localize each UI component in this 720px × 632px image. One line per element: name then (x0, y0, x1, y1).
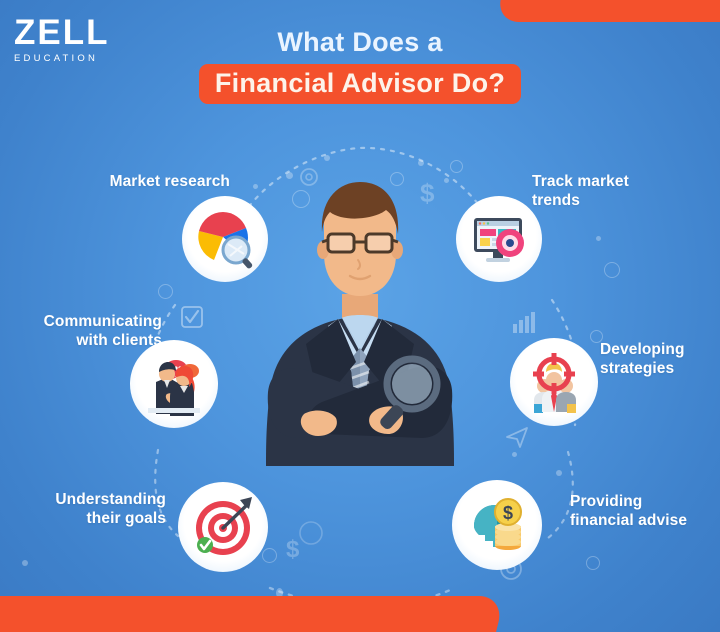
item-market-research-label: Market research (40, 172, 230, 191)
svg-text:$: $ (503, 503, 513, 523)
item-communicating-with-clients-label: Communicating with clients (0, 312, 162, 350)
item-developing-strategies-label: Developing strategies (600, 340, 718, 378)
two-people-speech-bubbles-icon (142, 352, 206, 416)
item-developing-strategies-bubble[interactable] (510, 338, 598, 426)
page-title: What Does a Financial Advisor Do? (0, 26, 720, 104)
corner-ribbon-bottom-left (0, 596, 505, 632)
coin-stack-icon (495, 523, 521, 550)
item-track-market-trends-bubble[interactable] (456, 196, 542, 282)
monitor-donut-chart-icon (468, 208, 530, 270)
magnifier-icon (223, 237, 253, 269)
title-highlight-box: Financial Advisor Do? (199, 64, 521, 104)
item-providing-financial-advise-label: Providing financial advise (570, 492, 720, 530)
item-understanding-their-goals-bubble[interactable] (178, 482, 268, 572)
item-track-market-trends-label: Track market trends (532, 172, 708, 210)
title-line-2: Financial Advisor Do? (215, 68, 505, 98)
dartboard-arrow-icon (190, 494, 256, 560)
item-communicating-with-clients-bubble[interactable] (130, 340, 218, 428)
item-providing-financial-advise-bubble[interactable]: $ (452, 480, 542, 570)
pie-chart-magnifier-icon (194, 208, 256, 270)
item-market-research-bubble[interactable] (182, 196, 268, 282)
financial-advisor-illustration (246, 176, 474, 466)
head-coins-dollar-icon: $ (464, 492, 530, 558)
title-line-1: What Does a (0, 26, 720, 58)
target-team-icon (522, 350, 586, 414)
corner-ribbon-top-right (495, 0, 720, 22)
infographic-canvas: $ $ $ ZELL EDUCATION What Does a F (0, 0, 720, 632)
item-understanding-their-goals-label: Understanding their goals (10, 490, 166, 528)
donut-chart-icon (496, 229, 524, 257)
